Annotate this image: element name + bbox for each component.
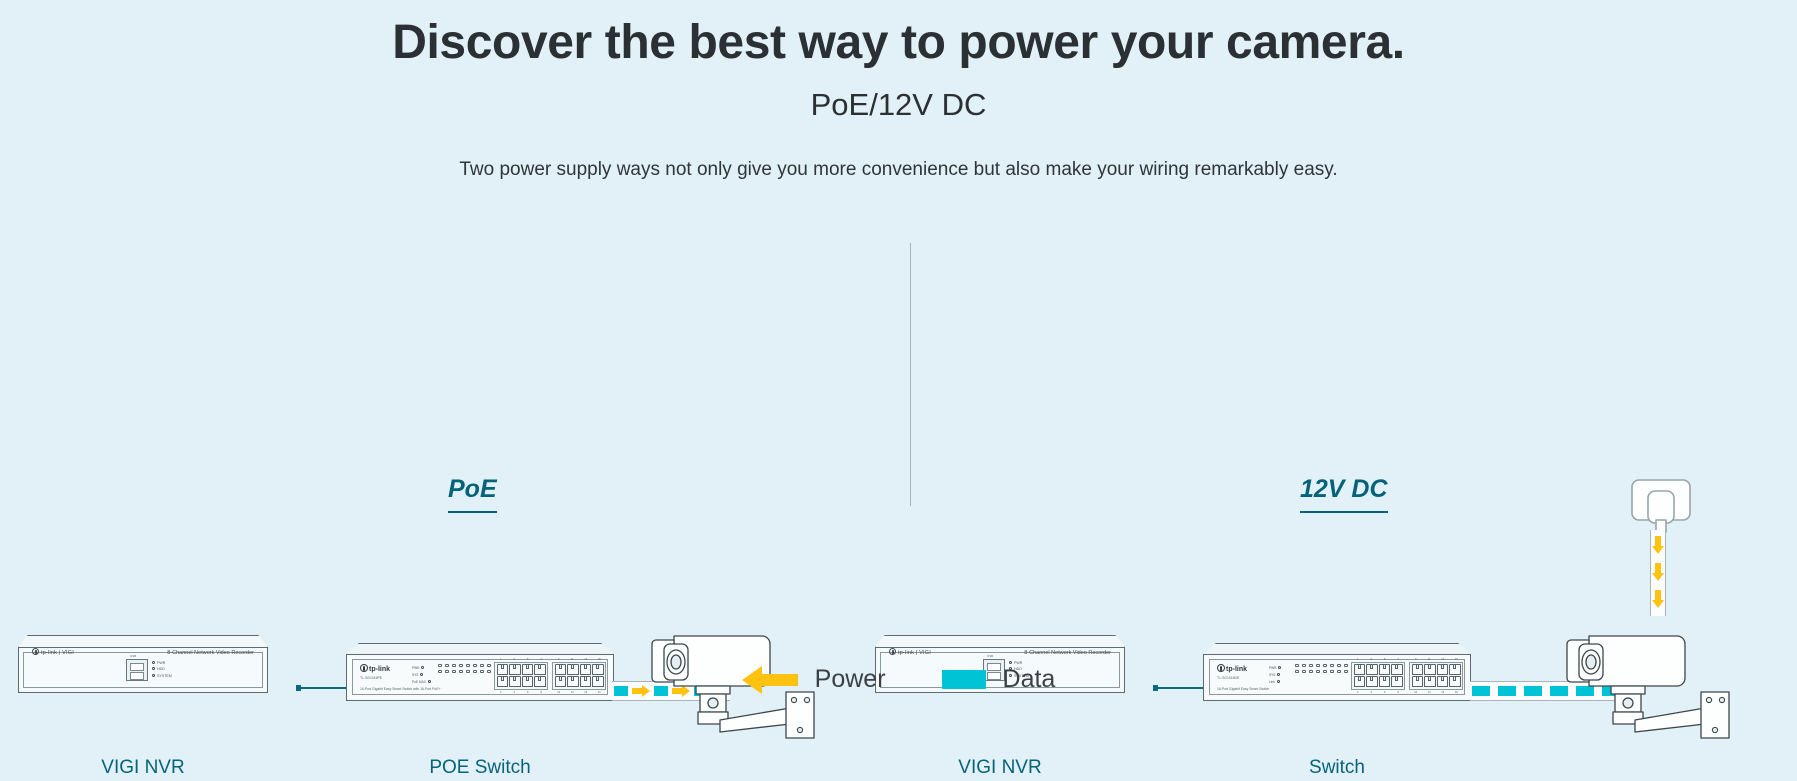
tplink-logo-mark (32, 648, 39, 655)
port-num: 5 (1378, 658, 1392, 661)
section-label-poe: PoE (448, 475, 497, 513)
panel-poe: PoE tp-link | VIGI 8-Channel Network Vid… (0, 205, 910, 605)
port-num: 9 (1409, 658, 1423, 661)
port-num: 13 (579, 658, 593, 661)
port-num: 1 (1351, 658, 1365, 661)
port-num: 5 (521, 658, 535, 661)
port-numbers-bank1-top: 1 3 5 7 (494, 658, 548, 661)
caption-nvr-poe: VIGI NVR (18, 757, 268, 779)
device-power-adapter (1626, 477, 1696, 535)
port-num: 3 (508, 658, 522, 661)
page-header: Discover the best way to power your came… (0, 0, 1797, 181)
nvr-model-text: 8-Channel Network Video Recorder (1024, 650, 1111, 656)
caption-nvr-dc: VIGI NVR (875, 757, 1125, 779)
led-dot-pwr (1009, 661, 1012, 664)
nvr-usb-label: USB (987, 654, 993, 658)
port-numbers-bank1-top: 1 3 5 7 (1351, 658, 1405, 661)
power-options-diagram: PoE tp-link | VIGI 8-Channel Network Vid… (0, 205, 1797, 675)
nvr-led-label-0: PWR (157, 661, 165, 665)
port-numbers-bank2-top: 9 11 13 15 (552, 658, 606, 661)
page-description: Two power supply ways not only give you … (0, 159, 1797, 181)
led-dot-pwr (152, 661, 155, 664)
legend-item-data: Data (942, 665, 1056, 694)
legend-label-power: Power (815, 665, 886, 694)
port-num: 3 (1365, 658, 1379, 661)
port-num: 7 (1392, 658, 1406, 661)
tplink-vigi-logo: tp-link | VIGI (889, 648, 931, 656)
port-num: 11 (566, 658, 580, 661)
power-arrow-down-icon (1652, 536, 1664, 554)
caption-poe-switch: POE Switch (346, 757, 614, 779)
port-num: 15 (593, 658, 607, 661)
dc-power-cable (1650, 530, 1666, 616)
nvr-led-label-0: PWR (1014, 661, 1022, 665)
port-num: 11 (1423, 658, 1437, 661)
port-num: 13 (1436, 658, 1450, 661)
nvr-brand-text: tp-link | VIGI (41, 650, 74, 656)
power-arrow-down-icon (1652, 563, 1664, 581)
port-num: 7 (535, 658, 549, 661)
panel-12v-dc: 12V DC tp-link | VIGI 8-Channel Network … (910, 205, 1797, 605)
data-swatch (942, 670, 986, 689)
legend-item-power: Power (742, 665, 886, 694)
port-num: 15 (1450, 658, 1464, 661)
power-arrow-down-icon (1652, 590, 1664, 608)
tplink-logo-mark (889, 648, 896, 655)
port-num: 1 (494, 658, 508, 661)
nvr-usb-label: USB (130, 654, 136, 658)
caption-switch-dc: Switch (1203, 757, 1471, 779)
page-title: Discover the best way to power your came… (0, 14, 1797, 73)
legend-label-data: Data (1003, 665, 1056, 694)
nvr-model-text: 8-Channel Network Video Recorder (167, 650, 254, 656)
power-adapter-icon (1626, 477, 1696, 535)
tplink-vigi-logo: tp-link | VIGI (32, 648, 74, 656)
page-subtitle: PoE/12V DC (0, 87, 1797, 123)
diagram-legend: Power Data (0, 665, 1797, 694)
power-arrow-left-icon (742, 666, 798, 694)
nvr-brand-text: tp-link | VIGI (898, 650, 931, 656)
port-num: 9 (552, 658, 566, 661)
port-numbers-bank2-top: 9 11 13 15 (1409, 658, 1463, 661)
section-label-12v-dc: 12V DC (1300, 475, 1388, 513)
